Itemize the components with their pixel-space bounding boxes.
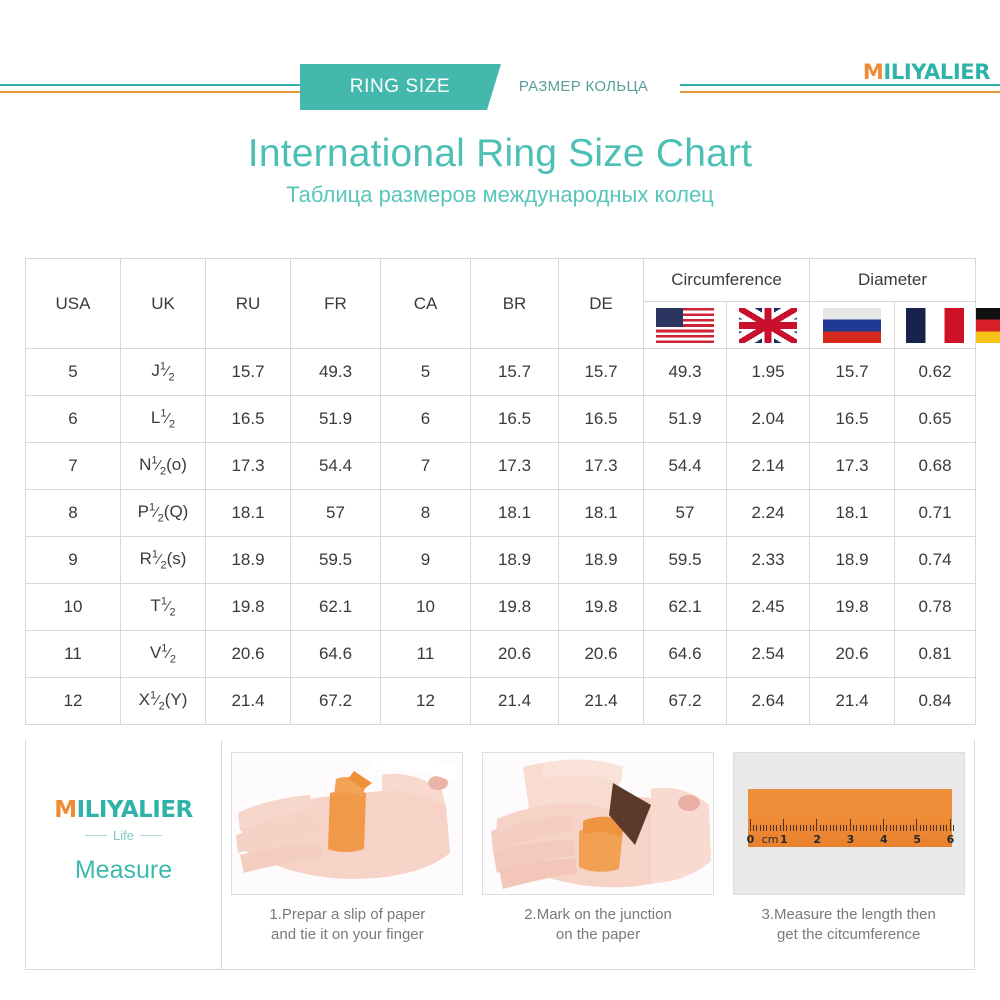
ruler-tick-minor	[856, 825, 857, 831]
flag-cell-uk	[727, 302, 810, 349]
ruler-tick-minor	[873, 825, 874, 831]
cell-uk: V1⁄2	[121, 631, 206, 678]
cell-fr: 57	[291, 490, 381, 537]
step-1: 1.Prepar a slip of paper and tie it on y…	[222, 740, 473, 969]
flag-france-icon	[906, 308, 964, 343]
cell-diam-inch: 0.84	[895, 678, 976, 725]
hand-photo-2-icon	[483, 753, 713, 894]
cell-circ-inch: 2.33	[727, 537, 810, 584]
cell-ru: 18.1	[206, 490, 291, 537]
cell-usa: 11	[26, 631, 121, 678]
ruler-tick-minor	[813, 825, 814, 831]
ruler-tick-minor	[846, 825, 847, 831]
cell-br: 15.7	[471, 349, 559, 396]
tagline-dash-right	[140, 835, 162, 836]
cell-diam-inch: 0.68	[895, 443, 976, 490]
cell-circ-inch: 2.24	[727, 490, 810, 537]
cell-ca: 5	[381, 349, 471, 396]
ruler-tick-minor	[823, 825, 824, 831]
steps-container: 1.Prepar a slip of paper and tie it on y…	[222, 740, 974, 969]
ruler-label-5: 5	[913, 833, 921, 846]
cell-circ-inch: 2.54	[727, 631, 810, 678]
brand-logo-initial: M	[863, 60, 884, 84]
ruler-tick-minor	[906, 825, 907, 831]
table-row: 11V1⁄220.664.61120.620.664.62.5420.60.81	[26, 631, 976, 678]
ruler-tick-minor	[826, 825, 827, 831]
header-br: BR	[471, 259, 559, 349]
cell-uk: L1⁄2	[121, 396, 206, 443]
cell-fr: 67.2	[291, 678, 381, 725]
ruler-label-1: 1	[780, 833, 788, 846]
cell-usa: 6	[26, 396, 121, 443]
ruler-tick-minor	[770, 825, 771, 831]
cell-ru: 19.8	[206, 584, 291, 631]
step-1-caption: 1.Prepar a slip of paper and tie it on y…	[269, 905, 425, 946]
ruler-tick-minor	[896, 825, 897, 831]
ruler-tick-minor	[900, 825, 901, 831]
ruler-tick-minor	[860, 825, 861, 831]
ruler-tick-minor	[803, 825, 804, 831]
ruler-tick-minor	[866, 825, 867, 831]
uk-size-value: L1⁄2	[151, 408, 175, 427]
cell-br: 21.4	[471, 678, 559, 725]
step-1-photo	[231, 752, 463, 895]
cell-diam-inch: 0.81	[895, 631, 976, 678]
cell-ru: 17.3	[206, 443, 291, 490]
flag-russia-icon	[823, 308, 881, 343]
measure-label: Measure	[75, 856, 172, 885]
cell-circ-inch: 2.04	[727, 396, 810, 443]
uk-size-value: X1⁄2(Y)	[139, 690, 188, 709]
cell-diam-mm: 20.6	[810, 631, 895, 678]
cell-circ-mm: 59.5	[644, 537, 727, 584]
cell-circ-inch: 1.95	[727, 349, 810, 396]
ruler-tick-minor	[936, 825, 937, 831]
ruler-tick-minor	[913, 825, 914, 831]
cell-fr: 51.9	[291, 396, 381, 443]
cell-ca: 9	[381, 537, 471, 584]
cell-ca: 7	[381, 443, 471, 490]
cell-diam-mm: 15.7	[810, 349, 895, 396]
brand-logo-footer: MILIYALIER	[54, 797, 193, 823]
cell-uk: R1⁄2(s)	[121, 537, 206, 584]
header-usa: USA	[26, 259, 121, 349]
ruler-tick-major	[783, 819, 784, 831]
cell-circ-mm: 62.1	[644, 584, 727, 631]
cell-usa: 9	[26, 537, 121, 584]
cell-usa: 5	[26, 349, 121, 396]
brand-logo-header: MILIYALIER	[863, 60, 990, 84]
hand-marking-illustration	[483, 753, 714, 895]
ruler-scale	[744, 815, 956, 831]
ruler-unit-label: cm	[762, 833, 779, 846]
ruler-tick-minor	[890, 825, 891, 831]
cell-diam-mm: 21.4	[810, 678, 895, 725]
cell-diam-inch: 0.78	[895, 584, 976, 631]
cell-diam-mm: 16.5	[810, 396, 895, 443]
cell-de: 18.1	[559, 490, 644, 537]
ruler-tick-minor	[836, 825, 837, 831]
ruler-tick-minor	[800, 825, 801, 831]
cell-uk: T1⁄2	[121, 584, 206, 631]
table-row: 6L1⁄216.551.9616.516.551.92.0416.50.65	[26, 396, 976, 443]
cell-fr: 62.1	[291, 584, 381, 631]
header-de: DE	[559, 259, 644, 349]
banner-title-en: RING SIZE	[300, 64, 500, 110]
ruler-tick-major	[850, 819, 851, 831]
table-row: 7N1⁄2(o)17.354.4717.317.354.42.1417.30.6…	[26, 443, 976, 490]
step-1-caption-line1: 1.Prepar a slip of paper	[269, 905, 425, 925]
step-3-caption: 3.Measure the length then get the citcum…	[762, 905, 936, 946]
cell-br: 20.6	[471, 631, 559, 678]
cell-circ-inch: 2.45	[727, 584, 810, 631]
cell-diam-inch: 0.62	[895, 349, 976, 396]
ruler-label-2: 2	[813, 833, 821, 846]
cell-de: 17.3	[559, 443, 644, 490]
table-row: 12X1⁄2(Y)21.467.21221.421.467.22.6421.40…	[26, 678, 976, 725]
uk-size-value: R1⁄2(s)	[140, 549, 187, 568]
cell-circ-mm: 49.3	[644, 349, 727, 396]
ruler-tick-minor	[786, 825, 787, 831]
cell-diam-mm: 18.9	[810, 537, 895, 584]
ruler-tick-major	[816, 819, 817, 831]
cell-ru: 15.7	[206, 349, 291, 396]
cell-de: 16.5	[559, 396, 644, 443]
ruler-tick-minor	[810, 825, 811, 831]
table-row: 10T1⁄219.862.11019.819.862.12.4519.80.78	[26, 584, 976, 631]
ruler-tick-minor	[953, 825, 954, 831]
step-2-caption-line1: 2.Mark on the junction	[524, 905, 672, 925]
cell-br: 17.3	[471, 443, 559, 490]
ruler-label-4: 4	[880, 833, 888, 846]
ruler-tick-minor	[893, 825, 894, 831]
brand-tagline: Life	[85, 828, 162, 843]
flag-cell-usa	[644, 302, 727, 349]
ruler-tick-minor	[806, 825, 807, 831]
flag-germany-icon	[976, 308, 1000, 343]
ruler-tick-minor	[830, 825, 831, 831]
brand-cell: MILIYALIER Life Measure	[26, 740, 222, 969]
step-1-caption-line2: and tie it on your finger	[269, 925, 425, 945]
flag-usa-icon	[656, 308, 714, 343]
cell-ca: 10	[381, 584, 471, 631]
table-row: 8P1⁄2(Q)18.157818.118.1572.2418.10.71	[26, 490, 976, 537]
header-ca: CA	[381, 259, 471, 349]
ring-size-table-wrapper: USA UK RU FR CA BR DE Circumference Diam…	[25, 258, 975, 725]
step-2-caption-line2: on the paper	[524, 925, 672, 945]
cell-uk: X1⁄2(Y)	[121, 678, 206, 725]
cell-fr: 54.4	[291, 443, 381, 490]
ruler-tick-minor	[870, 825, 871, 831]
uk-size-value: J1⁄2	[151, 361, 174, 380]
ruler-tick-major	[950, 819, 951, 831]
cell-circ-mm: 67.2	[644, 678, 727, 725]
page-title-ru: Таблица размеров международных колец	[0, 182, 1000, 208]
ruler-tick-minor	[763, 825, 764, 831]
ruler-tick-minor	[880, 825, 881, 831]
cell-circ-mm: 51.9	[644, 396, 727, 443]
cell-de: 19.8	[559, 584, 644, 631]
cell-usa: 12	[26, 678, 121, 725]
cell-circ-mm: 57	[644, 490, 727, 537]
cell-diam-inch: 0.71	[895, 490, 976, 537]
cell-ru: 21.4	[206, 678, 291, 725]
header-diameter: Diameter	[810, 259, 976, 302]
tagline-dash-left	[85, 835, 107, 836]
cell-uk: N1⁄2(o)	[121, 443, 206, 490]
step-3-photo: 0123456cm	[733, 752, 965, 895]
cell-br: 18.9	[471, 537, 559, 584]
ruler-tick-minor	[930, 825, 931, 831]
cell-ca: 8	[381, 490, 471, 537]
ruler-tick-minor	[876, 825, 877, 831]
cell-diam-mm: 17.3	[810, 443, 895, 490]
page-title-en: International Ring Size Chart	[0, 132, 1000, 176]
tagline-text: Life	[113, 828, 134, 843]
table-header-row: USA UK RU FR CA BR DE Circumference Diam…	[26, 259, 976, 302]
cell-de: 15.7	[559, 349, 644, 396]
step-2-caption: 2.Mark on the junction on the paper	[524, 905, 672, 946]
ruler-tick-minor	[886, 825, 887, 831]
flag-cell-ru	[810, 302, 895, 349]
table-row: 5J1⁄215.749.3515.715.749.31.9515.70.62	[26, 349, 976, 396]
step-3-caption-line1: 3.Measure the length then	[762, 905, 936, 925]
hand-photo-1-icon	[232, 753, 462, 894]
brand-logo-text: ILIYALIER	[883, 60, 990, 84]
ruler-label-0: 0	[747, 833, 755, 846]
banner-title-ru: РАЗМЕР КОЛЬЦА	[487, 64, 680, 110]
ruler-tick-major	[883, 819, 884, 831]
cell-usa: 10	[26, 584, 121, 631]
cell-fr: 64.6	[291, 631, 381, 678]
ruler-tick-minor	[820, 825, 821, 831]
hand-with-strip-illustration	[232, 753, 463, 895]
cell-fr: 49.3	[291, 349, 381, 396]
ruler-tick-major	[916, 819, 917, 831]
ruler-tick-minor	[943, 825, 944, 831]
ruler-tick-minor	[833, 825, 834, 831]
step-2: 2.Mark on the junction on the paper	[473, 740, 724, 969]
page-header: RING SIZE РАЗМЕР КОЛЬЦА MILIYALIER	[0, 0, 1000, 118]
step-3: 0123456cm 3.Measure the length then get …	[723, 740, 974, 969]
ruler-tick-minor	[780, 825, 781, 831]
header-uk: UK	[121, 259, 206, 349]
step-3-caption-line2: get the citcumference	[762, 925, 936, 945]
ruler-tick-minor	[766, 825, 767, 831]
ring-size-table: USA UK RU FR CA BR DE Circumference Diam…	[25, 258, 976, 725]
cell-uk: J1⁄2	[121, 349, 206, 396]
uk-size-value: N1⁄2(o)	[139, 455, 187, 474]
cell-usa: 8	[26, 490, 121, 537]
ruler-tick-minor	[853, 825, 854, 831]
ruler-tick-minor	[760, 825, 761, 831]
ruler-tick-minor	[903, 825, 904, 831]
ruler-tick-minor	[926, 825, 927, 831]
cell-ca: 12	[381, 678, 471, 725]
ruler-tick-minor	[790, 825, 791, 831]
cell-br: 18.1	[471, 490, 559, 537]
cell-uk: P1⁄2(Q)	[121, 490, 206, 537]
table-row: 9R1⁄2(s)18.959.5918.918.959.52.3318.90.7…	[26, 537, 976, 584]
cell-diam-inch: 0.74	[895, 537, 976, 584]
flag-uk-icon	[739, 308, 797, 343]
cell-ru: 20.6	[206, 631, 291, 678]
ruler-tick-minor	[946, 825, 947, 831]
cell-circ-inch: 2.64	[727, 678, 810, 725]
ruler-tick-minor	[840, 825, 841, 831]
cell-diam-mm: 18.1	[810, 490, 895, 537]
uk-size-value: P1⁄2(Q)	[138, 502, 189, 521]
cell-circ-inch: 2.14	[727, 443, 810, 490]
cell-fr: 59.5	[291, 537, 381, 584]
cell-de: 21.4	[559, 678, 644, 725]
cell-ru: 18.9	[206, 537, 291, 584]
ruler-tick-minor	[940, 825, 941, 831]
ruler-photo-icon: 0123456cm	[734, 753, 964, 894]
measure-instructions-section: MILIYALIER Life Measure	[25, 740, 975, 970]
ruler-tick-minor	[773, 825, 774, 831]
flag-cell-fr	[895, 302, 976, 349]
header-ru: RU	[206, 259, 291, 349]
ruler-tick-minor	[793, 825, 794, 831]
cell-br: 19.8	[471, 584, 559, 631]
cell-usa: 7	[26, 443, 121, 490]
cell-circ-mm: 64.6	[644, 631, 727, 678]
cell-circ-mm: 54.4	[644, 443, 727, 490]
ruler-tick-minor	[910, 825, 911, 831]
cell-de: 18.9	[559, 537, 644, 584]
ruler-tick-minor	[843, 825, 844, 831]
cell-br: 16.5	[471, 396, 559, 443]
ruler-tick-minor	[923, 825, 924, 831]
header-fr: FR	[291, 259, 381, 349]
table-body: 5J1⁄215.749.3515.715.749.31.9515.70.626L…	[26, 349, 976, 725]
ruler-tick-major	[750, 819, 751, 831]
ruler-tick-minor	[756, 825, 757, 831]
ruler-tick-minor	[796, 825, 797, 831]
ruler-tick-minor	[776, 825, 777, 831]
cell-ca: 6	[381, 396, 471, 443]
cell-ca: 11	[381, 631, 471, 678]
ruler-label-6: 6	[947, 833, 955, 846]
cell-ru: 16.5	[206, 396, 291, 443]
cell-diam-inch: 0.65	[895, 396, 976, 443]
ruler-tick-minor	[863, 825, 864, 831]
brand-logo-footer-initial: M	[54, 797, 76, 823]
step-2-photo	[482, 752, 714, 895]
cell-diam-mm: 19.8	[810, 584, 895, 631]
brand-logo-footer-text: ILIYALIER	[77, 797, 193, 823]
ruler-tick-minor	[920, 825, 921, 831]
uk-size-value: T1⁄2	[150, 596, 175, 615]
uk-size-value: V1⁄2	[150, 643, 176, 662]
ruler-tick-minor	[933, 825, 934, 831]
ruler-label-3: 3	[847, 833, 855, 846]
cell-de: 20.6	[559, 631, 644, 678]
ruler-tick-minor	[753, 825, 754, 831]
header-circumference: Circumference	[644, 259, 810, 302]
